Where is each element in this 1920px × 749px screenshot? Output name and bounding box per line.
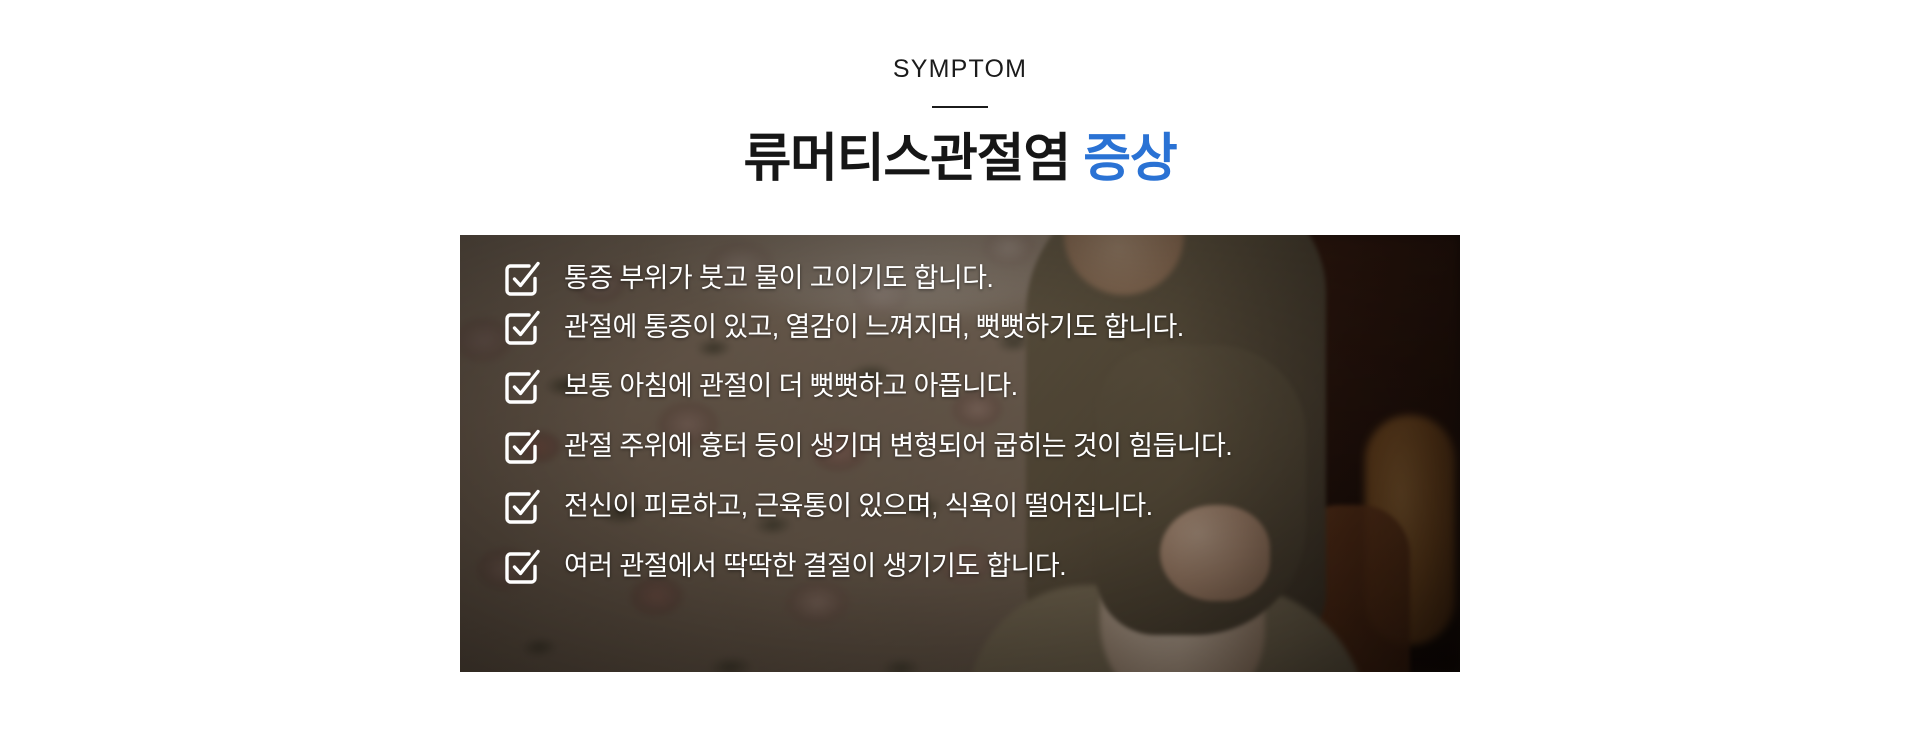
- symptom-list-item: 통증 부위가 붓고 물이 고이기도 합니다.: [502, 257, 993, 301]
- symptom-text: 관절에 통증이 있고, 열감이 느껴지며, 뻣뻣하기도 합니다.: [564, 313, 1184, 343]
- page-title: 류머티스관절염 증상: [0, 130, 1920, 188]
- checkbox-check-icon: [502, 308, 542, 348]
- symptom-list-item: 전신이 피로하고, 근육통이 있으며, 식욕이 떨어집니다.: [502, 485, 1153, 529]
- page-title-main: 류머티스관절염: [743, 130, 1069, 188]
- page-title-accent: 증상: [1083, 130, 1176, 188]
- checkbox-check-icon: [502, 367, 542, 407]
- symptom-list-item: 보통 아침에 관절이 더 뻣뻣하고 아픕니다.: [502, 365, 1018, 409]
- checkbox-check-icon: [502, 487, 542, 527]
- symptom-text: 보통 아침에 관절이 더 뻣뻣하고 아픕니다.: [564, 372, 1018, 402]
- symptom-text: 전신이 피로하고, 근육통이 있으며, 식욕이 떨어집니다.: [564, 492, 1153, 522]
- symptom-text: 통증 부위가 붓고 물이 고이기도 합니다.: [564, 264, 993, 294]
- checkbox-check-icon: [502, 547, 542, 587]
- symptom-checklist: 통증 부위가 붓고 물이 고이기도 합니다. 관절에 통증이 있고, 열감이 느…: [460, 235, 1460, 672]
- header-divider: [932, 106, 988, 108]
- checkbox-check-icon: [502, 259, 542, 299]
- symptom-text: 관절 주위에 흉터 등이 생기며 변형되어 굽히는 것이 힘듭니다.: [564, 432, 1232, 462]
- section-header: SYMPTOM 류머티스관절염 증상: [0, 0, 1920, 223]
- symptom-list-item: 관절 주위에 흉터 등이 생기며 변형되어 굽히는 것이 힘듭니다.: [502, 425, 1232, 469]
- checkbox-check-icon: [502, 427, 542, 467]
- symptom-list-item: 관절에 통증이 있고, 열감이 느껴지며, 뻣뻣하기도 합니다.: [502, 306, 1184, 350]
- header-divider-wrap: [0, 106, 1920, 108]
- symptom-list-item: 여러 관절에서 딱딱한 결절이 생기기도 합니다.: [502, 545, 1066, 589]
- symptom-text: 여러 관절에서 딱딱한 결절이 생기기도 합니다.: [564, 552, 1066, 582]
- symptom-banner: 통증 부위가 붓고 물이 고이기도 합니다. 관절에 통증이 있고, 열감이 느…: [460, 235, 1460, 672]
- section-eyebrow: SYMPTOM: [0, 57, 1920, 82]
- symptom-section: SYMPTOM 류머티스관절염 증상: [0, 0, 1920, 749]
